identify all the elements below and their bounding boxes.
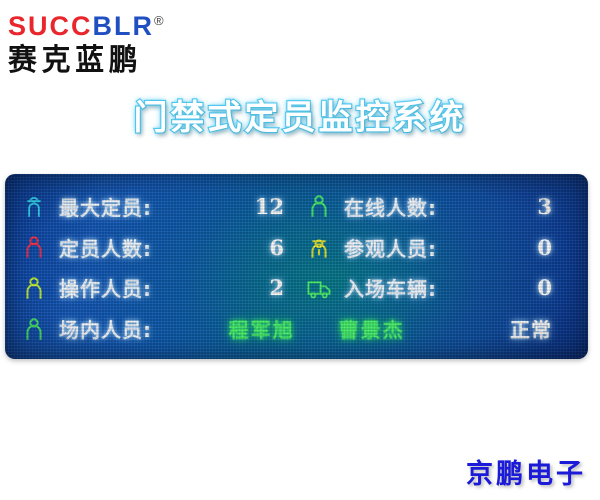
status-badge: 正常	[510, 314, 574, 343]
onsite-personnel-names: 程军旭 曹景杰	[205, 314, 405, 343]
vehicle-count-value: 0	[537, 275, 574, 300]
online-count-value: 3	[537, 194, 574, 219]
staffed-count-cell: 定员人数: 6	[21, 233, 306, 262]
vehicle-count-cell: 入场车辆: 0	[306, 273, 574, 302]
max-capacity-value: 12	[255, 194, 306, 219]
person-icon	[21, 234, 47, 260]
operator-count-value: 2	[269, 275, 306, 300]
max-capacity-cell: 最大定员: 12	[21, 192, 306, 221]
person-hardhat-icon	[21, 193, 47, 219]
max-capacity-label: 最大定员:	[59, 192, 152, 221]
led-content-grid: 最大定员: 12 在线人数: 3	[5, 174, 588, 359]
person-visitor-icon	[306, 234, 332, 260]
online-count-cell: 在线人数: 3	[306, 192, 574, 221]
visitor-count-cell: 参观人员: 0	[306, 233, 574, 262]
led-row: 操作人员: 2 入场车辆: 0	[21, 268, 574, 309]
person-icon	[21, 316, 47, 342]
operator-count-label: 操作人员:	[59, 273, 152, 302]
visitor-count-value: 0	[537, 235, 574, 260]
truck-icon	[306, 275, 332, 301]
visitor-count-label: 参观人员:	[344, 233, 437, 262]
registered-trademark-icon: ®	[154, 13, 164, 28]
page-title: 门禁式定员监控系统	[0, 90, 600, 139]
brand-chinese-name: 赛克蓝鹏	[8, 42, 229, 80]
staffed-count-value: 6	[269, 235, 306, 260]
onsite-personnel-row: 场内人员: 程军旭 曹景杰 正常	[21, 308, 574, 349]
led-row: 最大定员: 12 在线人数: 3	[21, 186, 574, 227]
onsite-personnel-label: 场内人员:	[59, 314, 152, 343]
brand-wordmark-blue: BLR	[93, 11, 155, 41]
vehicle-count-label: 入场车辆:	[344, 273, 437, 302]
footer-watermark: 京鹏电子	[466, 452, 586, 491]
brand-wordmark-red: SUCC	[8, 11, 93, 41]
online-count-label: 在线人数:	[344, 192, 437, 221]
person-icon	[306, 193, 332, 219]
brand-logo: SUCCBLR® 赛克蓝鹏	[8, 6, 238, 78]
person-icon	[21, 275, 47, 301]
staffed-count-label: 定员人数:	[59, 233, 152, 262]
brand-wordmark: SUCCBLR®	[8, 6, 238, 41]
operator-count-cell: 操作人员: 2	[21, 273, 306, 302]
led-row: 定员人数: 6 参观人员: 0	[21, 227, 574, 268]
onsite-person-name: 曹景杰	[339, 314, 405, 343]
onsite-person-name: 程军旭	[229, 314, 295, 343]
led-display-panel: 最大定员: 12 在线人数: 3	[5, 174, 588, 359]
